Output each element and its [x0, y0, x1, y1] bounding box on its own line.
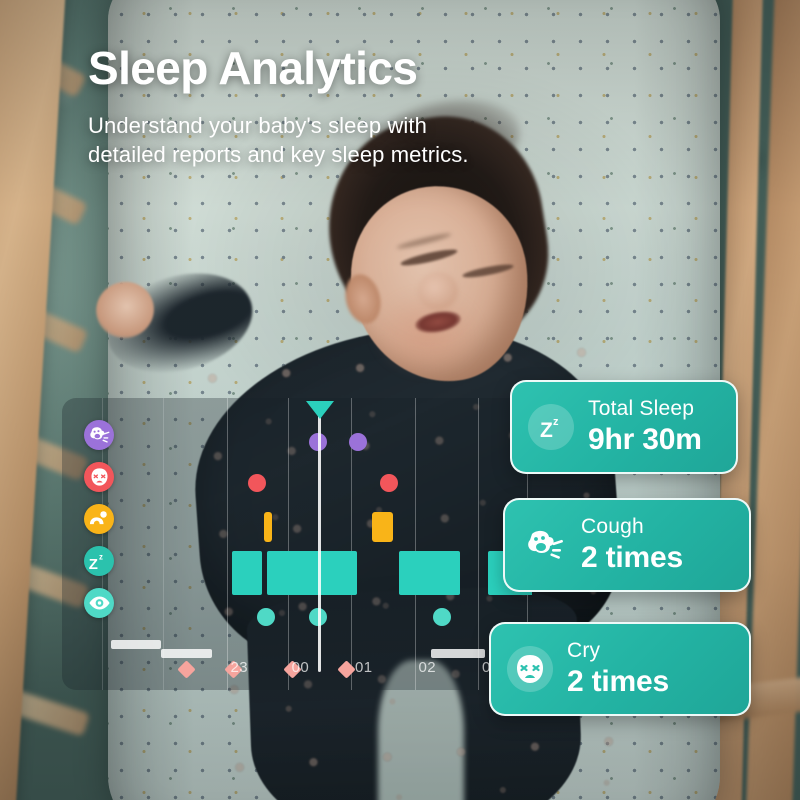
cry-icon [507, 646, 553, 692]
legend-movement-icon[interactable] [84, 504, 114, 534]
legend-cry-icon[interactable] [84, 462, 114, 492]
chart-event-dot[interactable] [257, 608, 275, 626]
chart-gridline [227, 398, 228, 690]
legend-eye-icon[interactable] [84, 588, 114, 618]
chart-hour-label: 23 [231, 659, 249, 676]
svg-text:Z: Z [89, 556, 98, 572]
sleep-timeline-chart[interactable]: 230001020304 Z z [62, 398, 532, 690]
metric-card-cough[interactable]: Cough 2 times [503, 498, 751, 592]
chart-legend: Z z [84, 420, 114, 630]
sleep-analytics-screen: Sleep Analytics Understand your baby's s… [0, 0, 800, 800]
chart-hour-label: 01 [355, 659, 373, 676]
card-label: Cry [567, 640, 669, 662]
page-subtitle: Understand your baby's sleep with detail… [88, 111, 508, 170]
chart-noise-bar [111, 640, 160, 649]
chart-gridline [288, 398, 289, 690]
card-value: 9hr 30m [588, 424, 702, 456]
chart-event-dot[interactable] [349, 433, 367, 451]
chart-event-dot[interactable] [433, 608, 451, 626]
svg-text:Z: Z [540, 419, 553, 442]
legend-cough-icon[interactable] [84, 420, 114, 450]
chart-event-dot[interactable] [248, 474, 266, 492]
legend-zzz-icon[interactable]: Z z [84, 546, 114, 576]
metric-card-total-sleep[interactable]: Z z Total Sleep 9hr 30m [510, 380, 738, 474]
playhead-triangle-icon [306, 401, 334, 419]
headline-block: Sleep Analytics Understand your baby's s… [88, 44, 508, 169]
chart-playhead[interactable] [318, 404, 321, 672]
chart-noise-bar [161, 649, 213, 658]
card-value: 2 times [567, 666, 669, 698]
chart-sleep-block[interactable] [399, 551, 460, 595]
chart-movement-block[interactable] [372, 512, 393, 542]
chart-event-dot[interactable] [380, 474, 398, 492]
chart-hour-label: 02 [419, 659, 437, 676]
chart-gridline [478, 398, 479, 690]
card-label: Total Sleep [588, 398, 702, 420]
card-value: 2 times [581, 542, 683, 574]
chart-hour-label: 00 [292, 659, 310, 676]
chart-sleep-block[interactable] [232, 551, 262, 595]
svg-text:z: z [553, 416, 559, 428]
cough-icon [521, 522, 567, 568]
svg-text:z: z [99, 552, 103, 561]
page-title: Sleep Analytics [88, 44, 508, 93]
metric-card-cry[interactable]: Cry 2 times [489, 622, 751, 716]
chart-gridline [163, 398, 164, 690]
chart-sleep-block[interactable] [267, 551, 357, 595]
chart-gridline [415, 398, 416, 690]
card-label: Cough [581, 516, 683, 538]
chart-alert-diamond[interactable] [337, 660, 355, 678]
zzz-icon: Z z [528, 404, 574, 450]
chart-noise-bar [431, 649, 485, 658]
chart-movement-block[interactable] [264, 512, 272, 542]
chart-alert-diamond[interactable] [177, 660, 195, 678]
